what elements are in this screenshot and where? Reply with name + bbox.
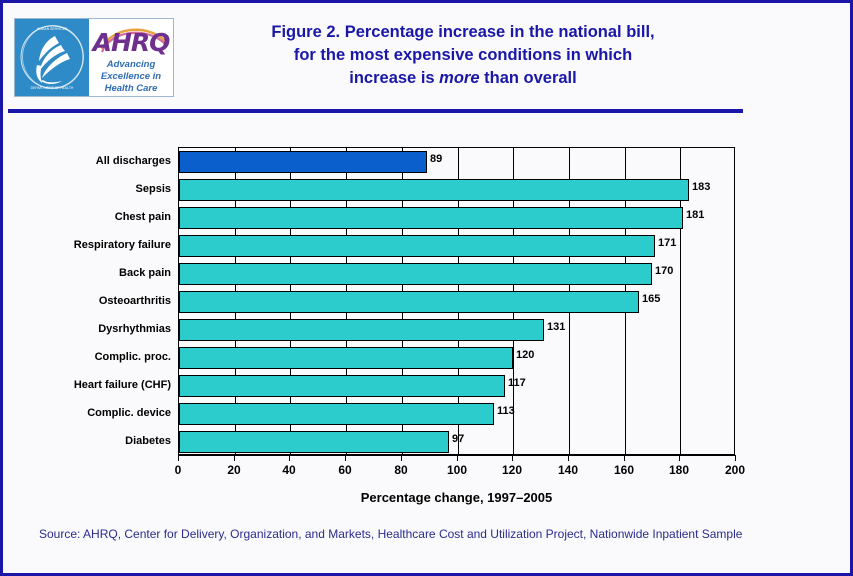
category-label: Dysrhythmias — [3, 315, 171, 343]
category-label: Back pain — [3, 259, 171, 287]
x-axis-tick-label: 120 — [502, 463, 522, 477]
tagline-line-3: Health Care — [89, 83, 173, 95]
bar-chart: All dischargesSepsisChest painRespirator… — [3, 115, 850, 570]
x-axis-tick — [568, 455, 569, 461]
category-label: Complic. proc. — [3, 343, 171, 371]
hhs-eagle-icon: HUMAN SERVICES DEPARTMENT OF HEALTH — [15, 19, 89, 96]
ahrq-tagline: Advancing Excellence in Health Care — [89, 59, 173, 95]
x-axis-tick-label: 60 — [338, 463, 351, 477]
bar-value-label: 89 — [430, 153, 442, 166]
bar-row: 131 — [179, 316, 734, 344]
bar-value-label: 165 — [642, 293, 660, 306]
x-axis-tick-label: 80 — [394, 463, 407, 477]
category-label: Respiratory failure — [3, 231, 171, 259]
bar[interactable] — [179, 431, 449, 453]
bar-value-label: 183 — [692, 181, 710, 194]
ahrq-wordmark: AHRQ Advancing Excellence in Health Care — [89, 19, 173, 96]
source-note: Source: AHRQ, Center for Delivery, Organ… — [39, 527, 742, 541]
x-axis-title: Percentage change, 1997–2005 — [178, 490, 735, 505]
bar[interactable] — [179, 179, 689, 201]
category-label: All discharges — [3, 147, 171, 175]
bar[interactable] — [179, 291, 639, 313]
bar-row: 89 — [179, 148, 734, 176]
header-divider — [8, 109, 743, 113]
bar-row: 113 — [179, 400, 734, 428]
bar-value-label: 131 — [547, 321, 565, 334]
x-axis-tick-label: 140 — [558, 463, 578, 477]
title-line-3-pre: increase is — [349, 69, 439, 87]
bar[interactable] — [179, 319, 544, 341]
title-line-2: for the most expensive conditions in whi… — [183, 44, 743, 67]
svg-text:HUMAN SERVICES: HUMAN SERVICES — [37, 27, 68, 31]
hhs-seal-icon: HUMAN SERVICES DEPARTMENT OF HEALTH — [15, 19, 89, 96]
x-axis-tick-label: 20 — [227, 463, 240, 477]
bar[interactable] — [179, 151, 427, 173]
title-line-1: Figure 2. Percentage increase in the nat… — [183, 21, 743, 44]
bar[interactable] — [179, 263, 652, 285]
bar-value-label: 120 — [516, 349, 534, 362]
bar-row: 97 — [179, 428, 734, 456]
bar-row: 171 — [179, 232, 734, 260]
x-axis-tick — [679, 455, 680, 461]
figure-page: HUMAN SERVICES DEPARTMENT OF HEALTH AHRQ… — [0, 0, 853, 576]
bar[interactable] — [179, 375, 505, 397]
bar-rows: 8918318117117016513112011711397 — [179, 148, 734, 454]
x-axis-tick — [624, 455, 625, 461]
x-axis-tick — [345, 455, 346, 461]
bar[interactable] — [179, 207, 683, 229]
x-axis-tick — [178, 455, 179, 461]
title-emphasis: more — [439, 69, 479, 87]
bar-value-label: 181 — [686, 209, 704, 222]
tagline-line-2: Excellence in — [89, 71, 173, 83]
bar-value-label: 171 — [658, 237, 676, 250]
bar[interactable] — [179, 403, 494, 425]
bar[interactable] — [179, 347, 513, 369]
svg-text:DEPARTMENT OF HEALTH: DEPARTMENT OF HEALTH — [31, 86, 74, 90]
figure-title: Figure 2. Percentage increase in the nat… — [183, 21, 743, 90]
bar-row: 120 — [179, 344, 734, 372]
x-axis-tick — [735, 455, 736, 461]
bar-row: 117 — [179, 372, 734, 400]
category-axis-labels: All dischargesSepsisChest painRespirator… — [3, 147, 171, 455]
bar-value-label: 97 — [452, 433, 464, 446]
x-axis-tick-label: 100 — [447, 463, 467, 477]
x-axis-tick-label: 180 — [669, 463, 689, 477]
bar-row: 181 — [179, 204, 734, 232]
x-axis-tick-label: 200 — [725, 463, 745, 477]
title-line-3-post: than overall — [480, 69, 577, 87]
category-label: Complic. device — [3, 399, 171, 427]
category-label: Heart failure (CHF) — [3, 371, 171, 399]
category-label: Diabetes — [3, 427, 171, 455]
x-axis-tick-label: 40 — [282, 463, 295, 477]
bar-row: 165 — [179, 288, 734, 316]
tagline-line-1: Advancing — [89, 59, 173, 71]
bar-value-label: 170 — [655, 265, 673, 278]
x-axis: 020406080100120140160180200 — [178, 455, 735, 456]
category-label: Osteoarthritis — [3, 287, 171, 315]
ahrq-logo: HUMAN SERVICES DEPARTMENT OF HEALTH AHRQ… — [14, 18, 174, 97]
category-label: Sepsis — [3, 175, 171, 203]
plot-area: 8918318117117016513112011711397 — [178, 147, 735, 455]
x-axis-tick-label: 160 — [614, 463, 634, 477]
title-line-3: increase is more than overall — [183, 67, 743, 90]
ahrq-letters: AHRQ — [89, 30, 173, 55]
x-axis-tick — [512, 455, 513, 461]
x-axis-tick — [401, 455, 402, 461]
x-axis-tick-label: 0 — [175, 463, 182, 477]
x-axis-tick — [234, 455, 235, 461]
bar-value-label: 113 — [497, 405, 515, 418]
x-axis-tick — [457, 455, 458, 461]
bar-row: 170 — [179, 260, 734, 288]
category-label: Chest pain — [3, 203, 171, 231]
bar[interactable] — [179, 235, 655, 257]
x-axis-tick — [289, 455, 290, 461]
bar-row: 183 — [179, 176, 734, 204]
figure-header: HUMAN SERVICES DEPARTMENT OF HEALTH AHRQ… — [3, 3, 850, 108]
bar-value-label: 117 — [508, 377, 526, 390]
